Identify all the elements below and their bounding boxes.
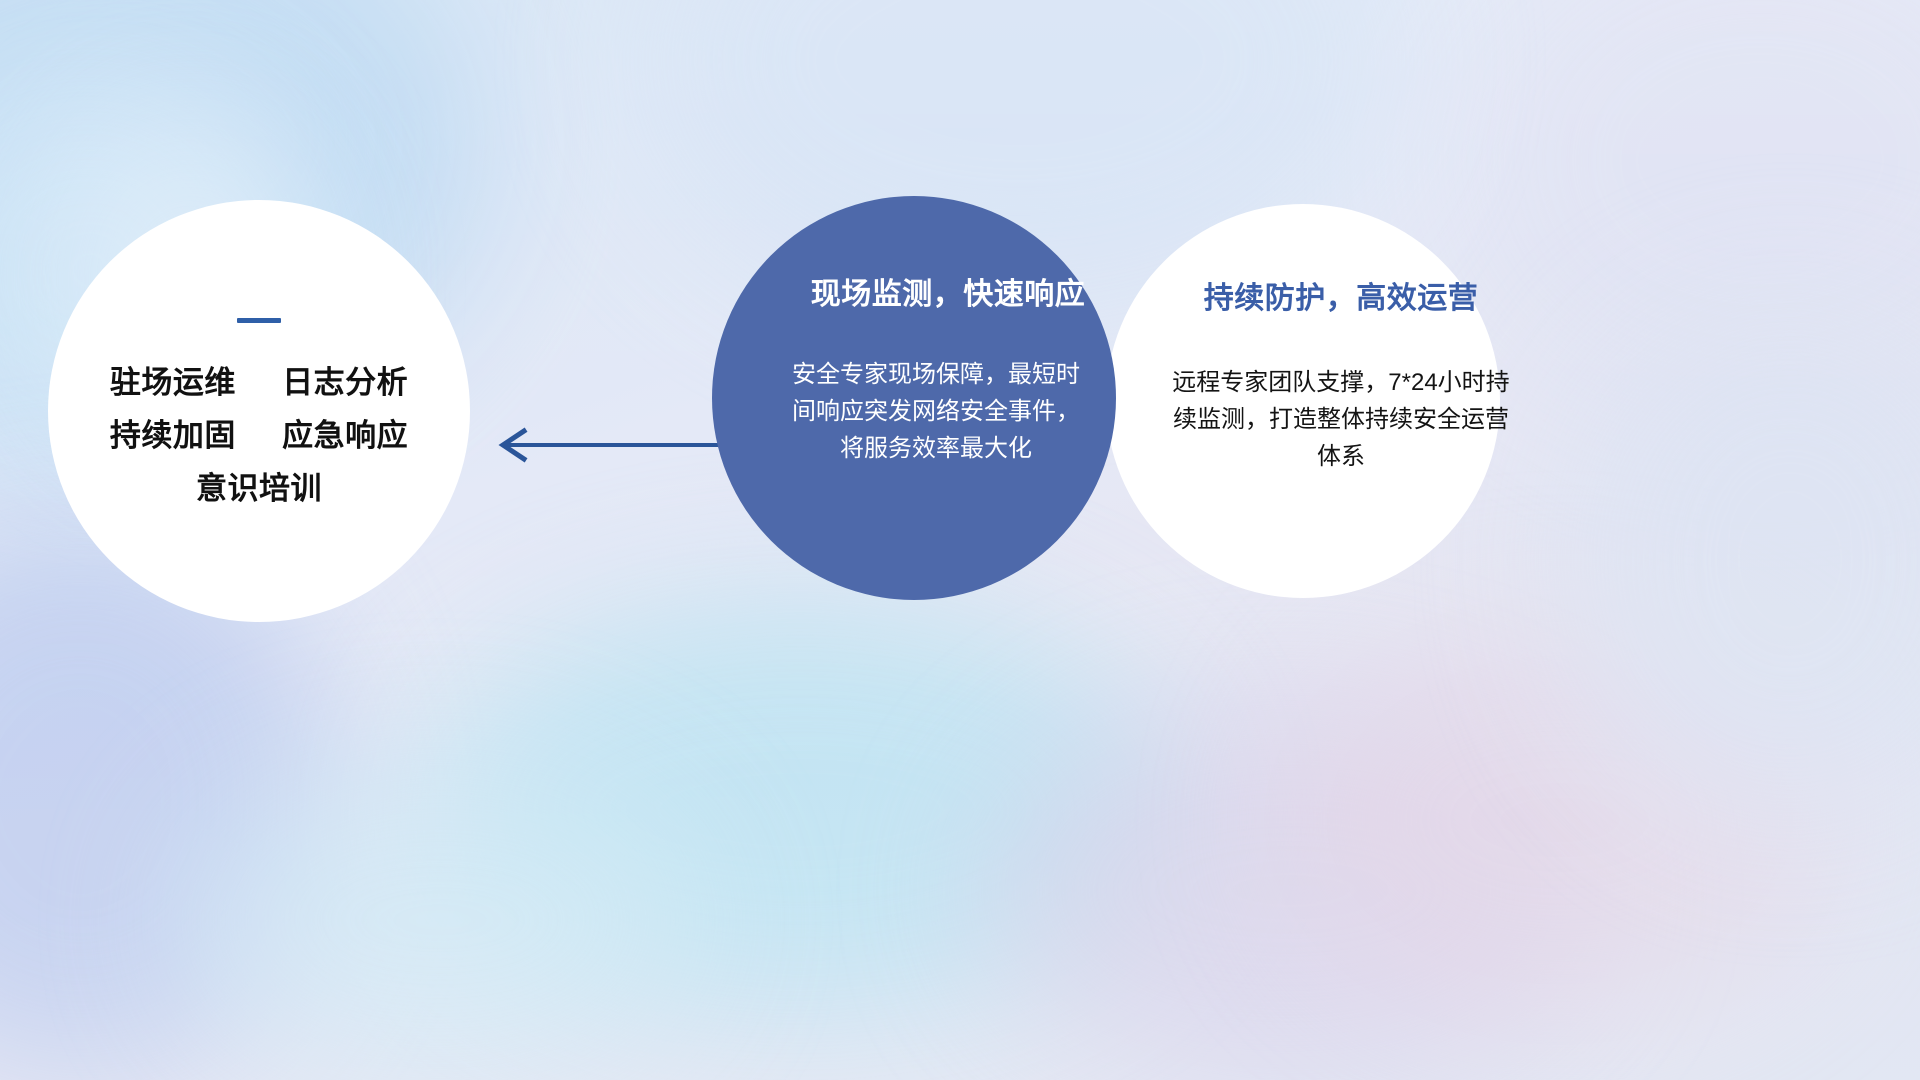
capability-row: 持续加固 应急响应 [110,420,408,451]
continuous-protection-circle: 持续防护，高效运营 远程专家团队支撑，7*24小时持续监测，打造整体持续安全运营… [1106,204,1500,598]
left-capability-circle: 驻场运维 日志分析 持续加固 应急响应 意识培训 [48,200,470,622]
capability-row: 驻场运维 日志分析 [110,367,408,398]
slide-canvas: 驻场运维 日志分析 持续加固 应急响应 意识培训 现场监测，快速响应 安全专家现… [0,0,1920,1080]
capability-item: 持续加固 [110,418,236,453]
onsite-monitoring-circle: 现场监测，快速响应 安全专家现场保障，最短时间响应突发网络安全事件，将服务效率最… [712,196,1116,600]
flow-arrow-icon [480,400,740,490]
onsite-monitoring-body: 安全专家现场保障，最短时间响应突发网络安全事件，将服务效率最大化 [786,356,1086,468]
divider-dash [237,318,281,323]
capability-list: 驻场运维 日志分析 持续加固 应急响应 意识培训 [110,367,408,504]
capability-item: 意识培训 [196,471,322,506]
continuous-protection-body: 远程专家团队支撑，7*24小时持续监测，打造整体持续安全运营体系 [1167,364,1515,476]
continuous-protection-title: 持续防护，高效运营 [1204,284,1479,314]
capability-item: 日志分析 [282,365,408,400]
onsite-monitoring-title: 现场监测，快速响应 [811,280,1086,310]
capability-item: 驻场运维 [110,365,236,400]
capability-row: 意识培训 [196,473,322,504]
capability-item: 应急响应 [282,418,408,453]
